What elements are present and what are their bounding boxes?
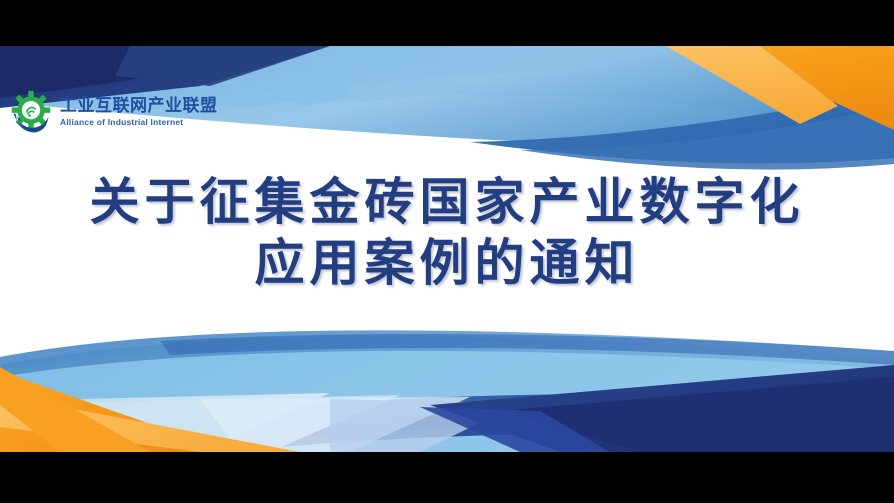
page-title-line-1: 关于征集金砖国家产业数字化: [0, 172, 894, 233]
slide-canvas: 工业互联网产业联盟 Alliance of Industrial Interne…: [0, 46, 894, 452]
gear-wifi-logo-icon: [8, 89, 54, 135]
logo-name-cn: 工业互联网产业联盟: [60, 98, 218, 115]
letterbox-bottom-bar: [0, 452, 894, 503]
organization-logo: 工业互联网产业联盟 Alliance of Industrial Interne…: [8, 89, 218, 135]
logo-wordmark: 工业互联网产业联盟 Alliance of Industrial Interne…: [60, 98, 218, 127]
logo-name-en: Alliance of Industrial Internet: [60, 118, 218, 127]
page-title: 关于征集金砖国家产业数字化 应用案例的通知: [0, 172, 894, 294]
letterbox-top-bar: [0, 0, 894, 46]
poster-frame: 工业互联网产业联盟 Alliance of Industrial Interne…: [0, 0, 894, 503]
page-title-line-2: 应用案例的通知: [0, 233, 894, 294]
bottom-wave-ribbons: [0, 307, 894, 452]
